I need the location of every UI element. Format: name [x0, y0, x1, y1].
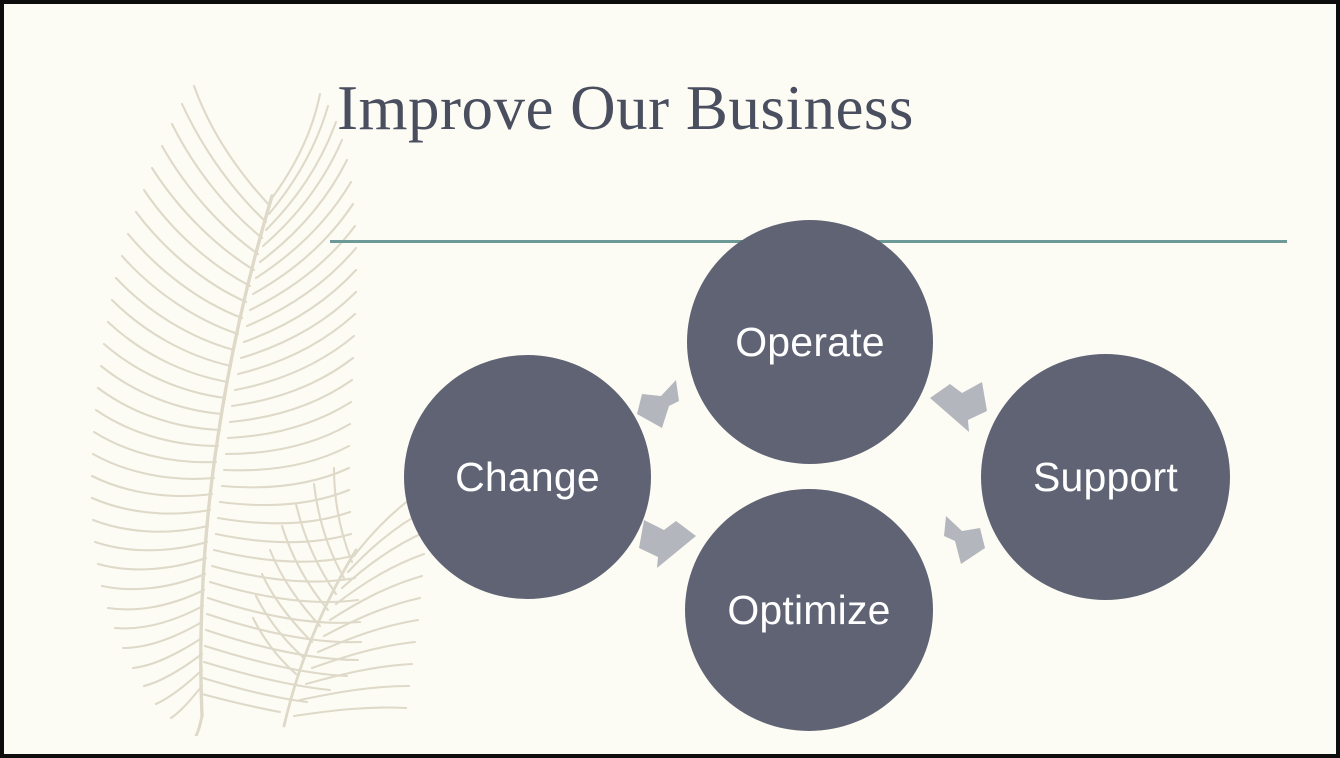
cycle-node-optimize[interactable]: Optimize [685, 489, 933, 731]
cycle-node-support-label: Support [1033, 457, 1178, 498]
cycle-node-optimize-label: Optimize [727, 590, 890, 631]
cycle-node-operate-label: Operate [735, 322, 885, 363]
arrow-down-right-icon [928, 376, 992, 436]
cycle-node-support[interactable]: Support [981, 354, 1230, 600]
arrow-up-right-icon [632, 376, 696, 436]
cycle-node-change-label: Change [455, 457, 600, 498]
slide-canvas: Improve Our Business Operate Support Opt… [0, 0, 1340, 758]
cycle-diagram: Operate Support Optimize Change [4, 4, 1340, 758]
arrow-up-left-icon [636, 512, 700, 572]
arrow-down-left-icon [928, 512, 992, 572]
cycle-node-change[interactable]: Change [404, 355, 651, 599]
cycle-node-operate[interactable]: Operate [687, 220, 933, 464]
